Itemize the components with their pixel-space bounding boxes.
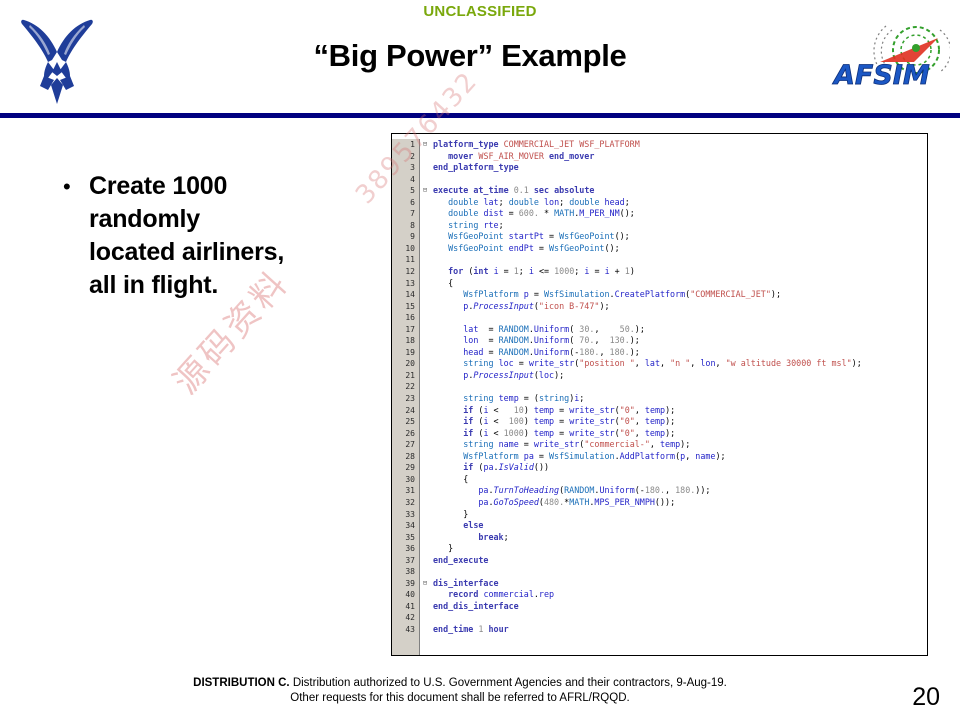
code-line[interactable]: p.ProcessInput(loc); <box>433 370 927 382</box>
line-number: 29 <box>392 462 415 474</box>
code-line[interactable]: end_execute <box>433 555 927 567</box>
code-fold-spacer <box>420 520 430 532</box>
classification-banner: UNCLASSIFIED <box>0 3 960 20</box>
code-fold-spacer <box>420 416 430 428</box>
code-line[interactable] <box>433 381 927 393</box>
code-fold-toggle-icon[interactable]: ⊟ <box>420 139 430 151</box>
code-line[interactable]: string loc = write_str("position ", lat,… <box>433 358 927 370</box>
bullet-marker: • <box>55 170 89 204</box>
line-number: 10 <box>392 243 415 255</box>
line-number: 3 <box>392 162 415 174</box>
line-number: 5 <box>392 185 415 197</box>
code-fold-spacer <box>420 462 430 474</box>
svg-text:AFSIM: AFSIM <box>832 60 930 91</box>
code-line[interactable]: string name = write_str("commercial-", t… <box>433 439 927 451</box>
code-fold-spacer <box>420 474 430 486</box>
code-line[interactable]: double dist = 600. * MATH.M_PER_NM(); <box>433 208 927 220</box>
code-line[interactable]: break; <box>433 532 927 544</box>
code-fold-spacer <box>420 151 430 163</box>
code-line[interactable]: if (pa.IsValid()) <box>433 462 927 474</box>
code-line[interactable]: end_time 1 hour <box>433 624 927 636</box>
code-fold-spacer <box>420 543 430 555</box>
code-fold-spacer <box>420 555 430 567</box>
line-number: 16 <box>392 312 415 324</box>
code-line[interactable]: dis_interface <box>433 578 927 590</box>
code-line[interactable]: end_platform_type <box>433 162 927 174</box>
code-fold-spacer <box>420 439 430 451</box>
code-line[interactable] <box>433 612 927 624</box>
line-number: 34 <box>392 520 415 532</box>
line-number: 35 <box>392 532 415 544</box>
code-fold-spacer <box>420 612 430 624</box>
code-line[interactable]: WsfPlatform p = WsfSimulation.CreatePlat… <box>433 289 927 301</box>
line-number: 12 <box>392 266 415 278</box>
code-content[interactable]: platform_type COMMERCIAL_JET WSF_PLATFOR… <box>430 139 927 655</box>
code-fold-spacer <box>420 532 430 544</box>
line-number: 18 <box>392 335 415 347</box>
line-number: 40 <box>392 589 415 601</box>
code-fold-toggle-icon[interactable]: ⊟ <box>420 185 430 197</box>
list-item: • Create 1000 randomly located airliners… <box>55 170 375 302</box>
code-fold-spacer <box>420 162 430 174</box>
code-line[interactable]: WsfGeoPoint startPt = WsfGeoPoint(); <box>433 231 927 243</box>
line-number: 11 <box>392 254 415 266</box>
code-line[interactable]: if (i < 1000) temp = write_str("0", temp… <box>433 428 927 440</box>
line-number: 20 <box>392 358 415 370</box>
line-number: 14 <box>392 289 415 301</box>
line-number: 43 <box>392 624 415 636</box>
code-line[interactable]: if (i < 10) temp = write_str("0", temp); <box>433 405 927 417</box>
code-fold-spacer <box>420 324 430 336</box>
line-number: 38 <box>392 566 415 578</box>
line-number: 41 <box>392 601 415 613</box>
line-number: 30 <box>392 474 415 486</box>
code-fold-spacer <box>420 266 430 278</box>
line-number: 7 <box>392 208 415 220</box>
distribution-label: DISTRIBUTION C. <box>193 677 289 689</box>
line-number: 26 <box>392 428 415 440</box>
line-number: 22 <box>392 381 415 393</box>
code-line[interactable]: WsfGeoPoint endPt = WsfGeoPoint(); <box>433 243 927 255</box>
code-panel[interactable]: 1234567891011121314151617181920212223242… <box>391 133 928 656</box>
code-fold-spacer <box>420 347 430 359</box>
code-fold-spacer <box>420 405 430 417</box>
distribution-statement-line1: DISTRIBUTION C. Distribution authorized … <box>80 676 840 691</box>
code-line[interactable] <box>433 312 927 324</box>
code-line[interactable]: pa.GoToSpeed(480.*MATH.MPS_PER_NMPH()); <box>433 497 927 509</box>
code-line[interactable]: lon = RANDOM.Uniform( 70., 130.); <box>433 335 927 347</box>
line-number: 31 <box>392 485 415 497</box>
code-fold-spacer <box>420 566 430 578</box>
code-fold-spacer <box>420 301 430 313</box>
line-number: 33 <box>392 509 415 521</box>
code-line[interactable]: if (i < 100) temp = write_str("0", temp)… <box>433 416 927 428</box>
code-line[interactable]: WsfPlatform pa = WsfSimulation.AddPlatfo… <box>433 451 927 463</box>
code-line[interactable]: string temp = (string)i; <box>433 393 927 405</box>
code-fold-spacer <box>420 278 430 290</box>
line-number-gutter: 1234567891011121314151617181920212223242… <box>392 139 420 655</box>
code-fold-spacer <box>420 497 430 509</box>
line-number: 2 <box>392 151 415 163</box>
line-number: 9 <box>392 231 415 243</box>
code-fold-spacer <box>420 289 430 301</box>
code-fold-spacer <box>420 335 430 347</box>
code-fold-toggle-icon[interactable]: ⊟ <box>420 578 430 590</box>
bullet-line: Create 1000 <box>89 170 284 203</box>
slide-number: 20 <box>912 683 940 712</box>
header-divider <box>0 113 960 118</box>
air-force-logo <box>14 18 100 106</box>
line-number: 39 <box>392 578 415 590</box>
line-number: 6 <box>392 197 415 209</box>
bullet-line: all in flight. <box>89 269 284 302</box>
bullet-list: • Create 1000 randomly located airliners… <box>55 170 375 302</box>
code-line[interactable]: string rte; <box>433 220 927 232</box>
code-fold-spacer <box>420 254 430 266</box>
code-line[interactable]: record commercial.rep <box>433 589 927 601</box>
code-fold-spacer <box>420 589 430 601</box>
code-fold-spacer <box>420 624 430 636</box>
line-number: 25 <box>392 416 415 428</box>
line-number: 36 <box>392 543 415 555</box>
code-line[interactable]: p.ProcessInput("icon B-747"); <box>433 301 927 313</box>
bullet-text: Create 1000 randomly located airliners, … <box>89 170 284 302</box>
line-number: 15 <box>392 301 415 313</box>
code-fold-spacer <box>420 381 430 393</box>
slide-header: UNCLASSIFIED “Big Power” Example <box>0 0 960 118</box>
code-line[interactable]: head = RANDOM.Uniform(-180., 180.); <box>433 347 927 359</box>
code-fold-column[interactable]: ⊟⊟⊟ <box>420 139 430 655</box>
code-line[interactable]: else <box>433 520 927 532</box>
line-number: 23 <box>392 393 415 405</box>
code-fold-spacer <box>420 451 430 463</box>
footer: DISTRIBUTION C. Distribution authorized … <box>80 676 840 706</box>
code-line[interactable]: mover WSF_AIR_MOVER end_mover <box>433 151 927 163</box>
line-number: 28 <box>392 451 415 463</box>
line-number: 32 <box>392 497 415 509</box>
code-line[interactable]: pa.TurnToHeading(RANDOM.Uniform(-180., 1… <box>433 485 927 497</box>
distribution-statement-line2: Other requests for this document shall b… <box>80 691 840 706</box>
code-line[interactable]: platform_type COMMERCIAL_JET WSF_PLATFOR… <box>433 139 927 151</box>
code-fold-spacer <box>420 208 430 220</box>
code-line[interactable] <box>433 566 927 578</box>
code-fold-spacer <box>420 601 430 613</box>
code-line[interactable]: } <box>433 543 927 555</box>
line-number: 37 <box>392 555 415 567</box>
code-fold-spacer <box>420 220 430 232</box>
code-fold-spacer <box>420 231 430 243</box>
code-fold-spacer <box>420 358 430 370</box>
code-line[interactable]: { <box>433 474 927 486</box>
page-title: “Big Power” Example <box>120 38 820 74</box>
code-line[interactable]: for (int i = 1; i <= 1000; i = i + 1) <box>433 266 927 278</box>
code-fold-spacer <box>420 393 430 405</box>
line-number: 21 <box>392 370 415 382</box>
code-fold-spacer <box>420 509 430 521</box>
line-number: 27 <box>392 439 415 451</box>
code-fold-spacer <box>420 428 430 440</box>
line-number: 1 <box>392 139 415 151</box>
line-number: 17 <box>392 324 415 336</box>
code-fold-spacer <box>420 197 430 209</box>
code-line[interactable] <box>433 254 927 266</box>
line-number: 13 <box>392 278 415 290</box>
code-fold-spacer <box>420 243 430 255</box>
line-number: 19 <box>392 347 415 359</box>
code-line[interactable]: end_dis_interface <box>433 601 927 613</box>
bullet-line: located airliners, <box>89 236 284 269</box>
code-line[interactable]: execute at_time 0.1 sec absolute <box>433 185 927 197</box>
code-fold-spacer <box>420 174 430 186</box>
code-line[interactable]: } <box>433 509 927 521</box>
afsim-logo: AFSIM <box>828 22 950 104</box>
code-fold-spacer <box>420 485 430 497</box>
code-fold-spacer <box>420 370 430 382</box>
line-number: 8 <box>392 220 415 232</box>
line-number: 42 <box>392 612 415 624</box>
code-fold-spacer <box>420 312 430 324</box>
line-number: 4 <box>392 174 415 186</box>
bullet-line: randomly <box>89 203 284 236</box>
code-line[interactable] <box>433 174 927 186</box>
line-number: 24 <box>392 405 415 417</box>
distribution-text: Distribution authorized to U.S. Governme… <box>290 677 727 689</box>
code-line[interactable]: lat = RANDOM.Uniform( 30., 50.); <box>433 324 927 336</box>
code-line[interactable]: double lat; double lon; double head; <box>433 197 927 209</box>
code-line[interactable]: { <box>433 278 927 290</box>
